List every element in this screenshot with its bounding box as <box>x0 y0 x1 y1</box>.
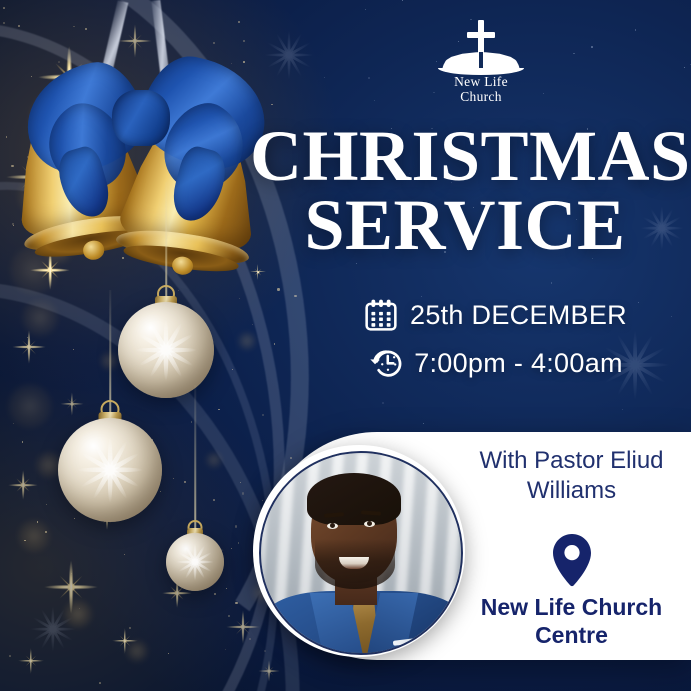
headline-line1: CHRISTMAS <box>250 116 691 196</box>
time-row: 7:00pm - 4:00am <box>300 346 691 380</box>
time-text: 7:00pm - 4:00am <box>414 348 623 379</box>
speaker-line1: With Pastor Eliud <box>452 446 691 476</box>
event-details: 25th DECEMBER 7:00pm - 4:00am <box>300 298 691 394</box>
page-title: CHRISTMAS SERVICE <box>250 122 680 260</box>
logo-line2: Church <box>396 89 566 104</box>
cross-on-dome-icon <box>396 18 566 74</box>
christmas-service-poster: New Life Church CHRISTMAS SERVICE 25th D… <box>0 0 691 691</box>
venue-name: New Life Church Centre <box>452 593 691 649</box>
bauble-small <box>166 533 224 591</box>
date-row: 25th DECEMBER <box>300 298 691 332</box>
bauble-top <box>118 302 214 398</box>
venue-line2: Centre <box>452 621 691 649</box>
speaker-name: With Pastor Eliud Williams <box>452 446 691 506</box>
date-text: 25th DECEMBER <box>410 300 627 331</box>
clock-icon <box>368 346 402 380</box>
calendar-icon <box>364 298 398 332</box>
location-pin-icon <box>550 533 594 591</box>
location-pin-wrapper <box>452 533 691 596</box>
pastor-portrait <box>253 445 465 657</box>
speaker-line2: Williams <box>452 476 691 506</box>
snowflake-icon <box>135 319 197 381</box>
headline-line2: SERVICE <box>250 191 680 260</box>
logo-line1: New Life <box>396 74 566 89</box>
church-logo: New Life Church <box>396 18 566 110</box>
venue-line1: New Life Church <box>452 593 691 621</box>
bauble-left <box>58 418 162 522</box>
portrait-ring <box>259 451 463 655</box>
snowflake-icon <box>176 543 214 581</box>
snowflake-icon <box>77 437 143 503</box>
